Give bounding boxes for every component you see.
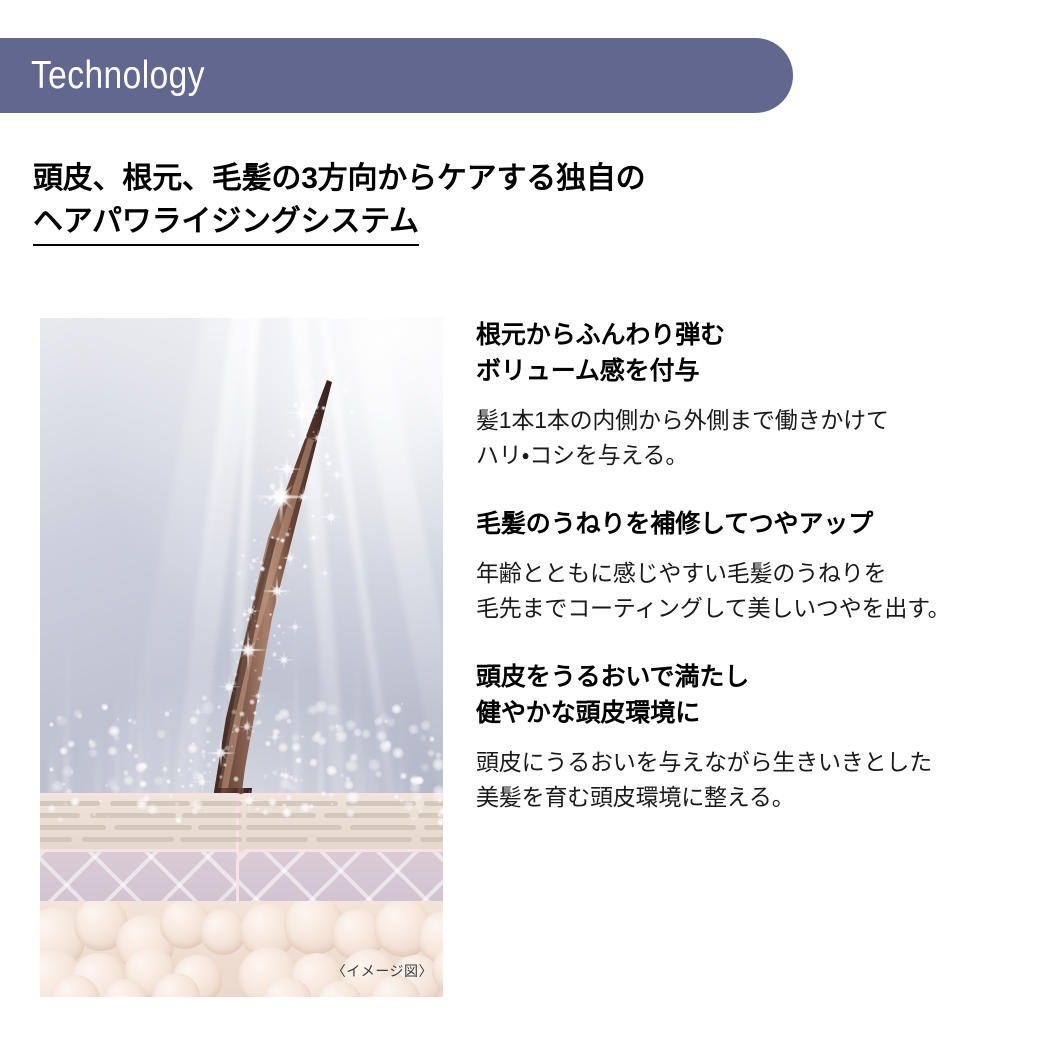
light-particle bbox=[321, 791, 326, 796]
light-particle bbox=[361, 729, 371, 739]
light-particle bbox=[205, 810, 208, 813]
figure-caption: 〈イメージ図〉 bbox=[332, 961, 433, 981]
light-particle bbox=[346, 791, 359, 804]
light-particle bbox=[301, 735, 304, 738]
light-particle bbox=[192, 799, 204, 811]
sparkle-star bbox=[286, 618, 304, 636]
light-particle bbox=[99, 799, 103, 803]
light-particle bbox=[437, 818, 443, 826]
glitter-particle bbox=[285, 593, 287, 595]
light-particle bbox=[57, 816, 64, 823]
light-particle bbox=[435, 752, 442, 759]
sparkle-star bbox=[318, 566, 332, 580]
headline-line-2: ヘアパワライジングシステム bbox=[33, 201, 419, 247]
light-particle bbox=[62, 782, 66, 786]
glitter-particle bbox=[301, 402, 307, 408]
sparkle-star bbox=[280, 548, 300, 568]
glitter-particle bbox=[268, 667, 271, 670]
glitter-particle bbox=[343, 388, 349, 394]
light-particle bbox=[128, 748, 132, 752]
light-particle bbox=[175, 817, 182, 824]
glitter-particle bbox=[233, 672, 238, 677]
page-headline: 頭皮、根元、毛髪の3方向からケアする独自の ヘアパワライジングシステム bbox=[33, 158, 793, 246]
light-particle bbox=[346, 809, 355, 818]
glitter-particle bbox=[321, 406, 325, 410]
light-particle bbox=[67, 740, 75, 748]
light-particle bbox=[310, 705, 320, 715]
light-particle bbox=[187, 743, 198, 754]
glitter-particle bbox=[259, 498, 263, 502]
glitter-particle bbox=[206, 740, 210, 744]
light-particle bbox=[432, 795, 440, 803]
glitter-particle bbox=[236, 570, 242, 576]
light-particle bbox=[401, 703, 403, 705]
glitter-particle bbox=[217, 705, 221, 709]
light-particle bbox=[174, 802, 180, 808]
light-particle bbox=[295, 757, 302, 764]
light-particle bbox=[61, 765, 74, 778]
light-particle bbox=[59, 747, 68, 756]
light-particle bbox=[291, 742, 301, 752]
light-particle bbox=[376, 730, 387, 741]
light-particle bbox=[400, 772, 408, 780]
glitter-particle bbox=[182, 752, 184, 754]
glitter-particle bbox=[271, 536, 275, 540]
light-particle bbox=[374, 717, 383, 726]
light-particle bbox=[70, 797, 80, 807]
light-particle bbox=[326, 703, 339, 716]
glitter-particle bbox=[349, 409, 354, 414]
light-particle bbox=[253, 720, 259, 726]
glitter-particle bbox=[282, 631, 285, 634]
light-particle bbox=[162, 766, 168, 772]
light-particle bbox=[139, 780, 147, 788]
light-particle bbox=[415, 803, 423, 811]
light-particle bbox=[181, 785, 185, 789]
sparkle-star bbox=[308, 428, 328, 448]
light-particle bbox=[286, 795, 291, 800]
benefit-block-1: 根元からふんわり弾む ボリューム感を付与 髪1本1本の内側から外側まで働きかけて… bbox=[476, 318, 1021, 473]
glitter-particle bbox=[312, 431, 314, 433]
glitter-particle bbox=[234, 727, 240, 733]
benefit-body-1-line-1: 髪1本1本の内側から外側まで働きかけて bbox=[476, 403, 1021, 438]
benefit-heading-2-line-1: 毛髪のうねりを補修してつやアップ bbox=[476, 507, 1021, 543]
glitter-particle bbox=[260, 566, 266, 572]
benefit-heading-2: 毛髪のうねりを補修してつやアップ bbox=[476, 507, 1021, 543]
glitter-particle bbox=[231, 648, 236, 653]
light-particle bbox=[409, 782, 421, 794]
glitter-particle bbox=[289, 528, 292, 531]
glitter-particle bbox=[324, 492, 330, 498]
light-particle bbox=[345, 759, 359, 773]
light-particle bbox=[56, 715, 62, 721]
glitter-particle bbox=[201, 776, 203, 778]
glitter-particle bbox=[245, 647, 250, 652]
light-particle bbox=[169, 709, 173, 713]
light-particle bbox=[107, 815, 110, 818]
light-particle bbox=[420, 763, 430, 773]
light-particle bbox=[105, 784, 108, 787]
glitter-particle bbox=[269, 613, 272, 616]
glitter-particle bbox=[277, 641, 281, 645]
light-particle bbox=[153, 776, 164, 787]
glitter-particle bbox=[285, 532, 290, 537]
light-particle bbox=[253, 711, 257, 715]
glitter-particle bbox=[278, 565, 283, 570]
benefit-body-2: 年齢とともに感じやすい毛髪のうねりを 毛先までコーティングして美しいつやを出す。 bbox=[476, 556, 1021, 626]
light-particle bbox=[344, 780, 354, 790]
light-particle bbox=[317, 736, 328, 747]
light-particle bbox=[432, 758, 443, 771]
glitter-particle bbox=[236, 661, 238, 663]
glitter-particle bbox=[311, 381, 315, 385]
glitter-particle bbox=[250, 595, 256, 601]
light-particle bbox=[189, 759, 194, 764]
light-particle bbox=[113, 734, 120, 741]
glitter-particle bbox=[233, 776, 239, 782]
benefit-heading-3: 頭皮をうるおいで満たし 健やかな頭皮環境に bbox=[476, 660, 1021, 731]
glitter-particle bbox=[251, 730, 254, 733]
glitter-particle bbox=[260, 542, 263, 545]
light-particle bbox=[302, 768, 305, 771]
glitter-particle bbox=[241, 554, 245, 558]
light-particle bbox=[132, 720, 137, 725]
technology-banner: Technology bbox=[0, 38, 793, 113]
light-particle bbox=[263, 774, 268, 779]
glitter-particle bbox=[179, 774, 181, 776]
sparkle-star bbox=[302, 410, 316, 424]
headline-line-1: 頭皮、根元、毛髪の3方向からケアする独自の bbox=[33, 158, 793, 201]
glitter-particle bbox=[177, 768, 181, 772]
sparkle-star bbox=[292, 486, 314, 508]
light-particle bbox=[265, 740, 272, 747]
glitter-particle bbox=[257, 699, 261, 703]
light-particle bbox=[255, 807, 259, 811]
banner-title: Technology bbox=[0, 56, 205, 95]
sparkle-star bbox=[318, 504, 344, 530]
light-particle bbox=[201, 749, 206, 754]
glitter-particle bbox=[332, 406, 335, 409]
light-particle bbox=[189, 716, 198, 725]
glitter-particle bbox=[302, 564, 307, 569]
glitter-particle bbox=[251, 558, 256, 563]
light-particle bbox=[272, 770, 278, 776]
light-particle bbox=[437, 812, 442, 817]
glitter-particle bbox=[253, 605, 256, 608]
glitter-particle bbox=[235, 643, 239, 647]
glitter-particle bbox=[249, 699, 255, 705]
light-particle bbox=[49, 767, 54, 772]
benefit-body-2-line-2: 毛先までコーティングして美しいつやを出す。 bbox=[476, 591, 1021, 626]
glitter-particle bbox=[246, 618, 249, 621]
glitter-particle bbox=[219, 775, 223, 779]
glitter-particle bbox=[246, 736, 250, 740]
glitter-particle bbox=[272, 652, 277, 657]
benefits-list: 根元からふんわり弾む ボリューム感を付与 髪1本1本の内側から外側まで働きかけて… bbox=[476, 318, 1021, 815]
glitter-particle bbox=[298, 441, 302, 445]
light-particle bbox=[300, 779, 303, 782]
light-particle bbox=[286, 718, 292, 724]
benefit-body-1: 髪1本1本の内側から外側まで働きかけて ハリ・コシを与える。 bbox=[476, 403, 1021, 473]
benefit-body-2-line-1: 年齢とともに感じやすい毛髪のうねりを bbox=[476, 556, 1021, 591]
light-particle bbox=[340, 773, 345, 778]
light-particle bbox=[63, 802, 68, 807]
glitter-particle bbox=[278, 472, 281, 475]
light-particle bbox=[143, 795, 150, 802]
light-particle bbox=[123, 775, 134, 786]
glitter-particle bbox=[231, 745, 233, 747]
light-particle bbox=[331, 803, 333, 805]
light-particle bbox=[412, 816, 416, 820]
light-particle bbox=[384, 740, 392, 748]
light-particle bbox=[147, 804, 158, 815]
glitter-particle bbox=[249, 565, 254, 570]
glitter-particle bbox=[324, 453, 330, 459]
light-particle bbox=[391, 704, 402, 715]
glitter-particle bbox=[326, 460, 332, 466]
glitter-particle bbox=[319, 490, 322, 493]
glitter-particle bbox=[280, 538, 285, 543]
light-particle bbox=[262, 809, 269, 816]
glitter-particle bbox=[342, 379, 348, 385]
glitter-particle bbox=[259, 561, 264, 566]
light-particle bbox=[47, 804, 56, 813]
light-particle bbox=[92, 812, 97, 817]
light-particle bbox=[205, 726, 212, 733]
light-particle bbox=[88, 748, 98, 758]
glitter-particle bbox=[254, 620, 256, 622]
light-particle bbox=[335, 730, 348, 743]
benefit-heading-1-line-2: ボリューム感を付与 bbox=[476, 354, 1021, 390]
glitter-particle bbox=[338, 441, 342, 445]
glitter-particle bbox=[231, 709, 237, 715]
glitter-particle bbox=[273, 634, 276, 637]
light-particle bbox=[280, 772, 285, 777]
glitter-particle bbox=[326, 422, 329, 425]
glitter-particle bbox=[253, 539, 256, 542]
light-particle bbox=[368, 758, 381, 771]
benefit-heading-3-line-2: 健やかな頭皮環境に bbox=[476, 696, 1021, 732]
sparkle-star bbox=[216, 674, 242, 700]
light-particle bbox=[202, 754, 206, 758]
glitter-particle bbox=[211, 669, 213, 671]
glitter-particle bbox=[303, 435, 307, 439]
glitter-particle bbox=[338, 379, 341, 382]
light-particle bbox=[403, 800, 414, 811]
light-particle bbox=[168, 793, 173, 798]
glitter-particle bbox=[319, 495, 321, 497]
glitter-particle bbox=[308, 481, 314, 487]
glitter-particle bbox=[269, 483, 275, 489]
glitter-particle bbox=[236, 597, 238, 599]
benefit-block-3: 頭皮をうるおいで満たし 健やかな頭皮環境に 頭皮にうるおいを与えながら生きいきと… bbox=[476, 660, 1021, 815]
light-particle bbox=[268, 798, 278, 808]
glitter-particle bbox=[257, 676, 262, 681]
light-particle bbox=[103, 705, 108, 710]
sparkle-star bbox=[262, 576, 292, 606]
light-particle bbox=[166, 779, 171, 784]
light-particle bbox=[66, 788, 72, 794]
glitter-particle bbox=[232, 731, 234, 733]
glitter-particle bbox=[303, 529, 305, 531]
glitter-particle bbox=[285, 557, 287, 559]
sparkle-star bbox=[240, 600, 262, 622]
sparkles-group bbox=[40, 318, 443, 997]
benefit-heading-3-line-1: 頭皮をうるおいで満たし bbox=[476, 660, 1021, 696]
light-particle bbox=[293, 777, 298, 782]
glitter-particle bbox=[254, 669, 257, 672]
light-particle bbox=[420, 720, 431, 731]
glitter-particle bbox=[254, 579, 258, 583]
light-particle bbox=[156, 729, 166, 739]
light-particle bbox=[328, 792, 334, 798]
light-particle bbox=[300, 802, 311, 813]
light-particle bbox=[49, 722, 54, 727]
glitter-particle bbox=[293, 402, 299, 408]
light-particle bbox=[326, 765, 337, 776]
glitter-particle bbox=[249, 563, 252, 566]
glitter-particle bbox=[277, 624, 281, 628]
glitter-particle bbox=[280, 482, 285, 487]
benefit-heading-1: 根元からふんわり弾む ボリューム感を付与 bbox=[476, 318, 1021, 389]
light-particle bbox=[420, 734, 428, 742]
benefit-body-3-line-1: 頭皮にうるおいを与えながら生きいきとした bbox=[476, 745, 1021, 780]
hair-scalp-illustration: 〈イメージ図〉 bbox=[40, 318, 443, 997]
benefit-body-3-line-2: 美髪を育む頭皮環境に整える。 bbox=[476, 780, 1021, 815]
light-particle bbox=[408, 724, 420, 736]
light-particle bbox=[278, 742, 289, 753]
glitter-particle bbox=[291, 433, 296, 438]
glitter-particle bbox=[267, 469, 270, 472]
light-particle bbox=[140, 762, 148, 770]
benefit-body-3: 頭皮にうるおいを与えながら生きいきとした 美髪を育む頭皮環境に整える。 bbox=[476, 745, 1021, 815]
light-particle bbox=[309, 758, 319, 768]
light-particle bbox=[284, 807, 289, 812]
glitter-particle bbox=[255, 624, 259, 628]
light-particle bbox=[133, 753, 139, 759]
light-particle bbox=[117, 718, 119, 720]
benefit-heading-1-line-1: 根元からふんわり弾む bbox=[476, 318, 1021, 354]
sparkle-star bbox=[328, 466, 346, 484]
light-particle bbox=[107, 746, 118, 757]
light-particle bbox=[429, 736, 435, 742]
light-particle bbox=[201, 701, 215, 715]
benefit-body-1-line-2: ハリ・コシを与える。 bbox=[476, 438, 1021, 473]
benefit-block-2: 毛髪のうねりを補修してつやアップ 年齢とともに感じやすい毛髪のうねりを 毛先まで… bbox=[476, 507, 1021, 626]
glitter-particle bbox=[309, 391, 311, 393]
light-particle bbox=[392, 747, 404, 759]
glitter-particle bbox=[311, 514, 315, 518]
